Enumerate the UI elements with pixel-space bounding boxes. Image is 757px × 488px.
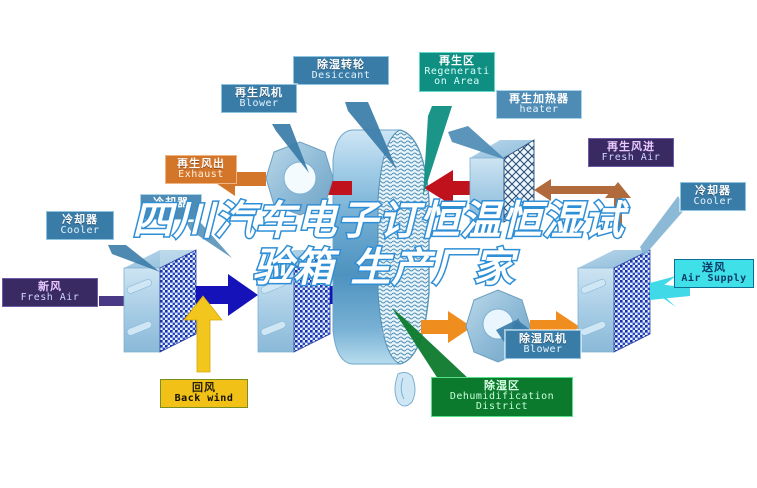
label-dehumidification-district: 除湿区 Dehumidification District [431, 377, 573, 417]
arrow-regen-fresh-air-orange [534, 179, 631, 238]
label-dehumid-blower-en: Blower [510, 345, 576, 356]
label-regen-heater: 再生加热器 heater [496, 90, 582, 119]
label-air-supply-cn: 送风 [679, 262, 749, 274]
label-desiccant-cn: 除湿转轮 [298, 59, 384, 71]
regen-heater-unit [470, 140, 534, 222]
label-cooler-right: 冷却器 Cooler [680, 182, 746, 211]
label-desiccant-wheel: 除湿转轮 Desiccant [293, 56, 389, 85]
label-regen-fresh-cn: 再生风进 [593, 141, 669, 153]
label-dehumid-cn: 除湿区 [436, 380, 568, 392]
label-regen-fresh-air-in: 再生风进 Fresh Air [588, 138, 674, 167]
label-cooler-left-cn: 冷却器 [51, 214, 109, 226]
label-regen-blower-cn: 再生风机 [226, 87, 292, 99]
rotor-faint-text: XT [378, 327, 395, 342]
label-cooler-back-cn: 冷却器 [145, 197, 197, 209]
label-back-wind: 回风 Back wind [160, 379, 248, 408]
label-cooler-right-en: Cooler [685, 197, 741, 208]
label-regen-blower: 再生风机 Blower [221, 84, 297, 113]
cooler-unit-2 [258, 250, 330, 352]
label-heater-en: heater [501, 105, 577, 116]
label-fresh-air-en: Fresh Air [7, 293, 93, 304]
dehumidifier-airflow-diagram: XT [0, 0, 757, 488]
arrow-dehumid-orange-1 [421, 311, 472, 343]
label-dehumid-blower-cn: 除湿风机 [510, 333, 576, 345]
label-cooler-right-cn: 冷却器 [685, 185, 741, 197]
label-cooler-left-back: 冷却器 [140, 194, 202, 220]
desiccant-rotor: XT [333, 130, 429, 406]
label-desiccant-en: Desiccant [298, 71, 384, 82]
label-regeneration-area: 再生区 Regenerati on Area [419, 52, 495, 92]
label-air-supply-en: Air Supply [679, 274, 749, 285]
label-fresh-air-cn: 新风 [7, 281, 93, 293]
cooler-unit-3 [578, 250, 650, 352]
label-fresh-air-in: 新风 Fresh Air [2, 278, 98, 307]
cooler-unit-1 [124, 250, 196, 352]
label-regen-area-cn: 再生区 [424, 55, 490, 67]
label-regen-exhaust: 再生风出 Exhaust [165, 155, 237, 184]
label-regen-fresh-en: Fresh Air [593, 153, 669, 164]
label-cooler-left-front: 冷却器 Cooler [46, 211, 114, 240]
label-air-supply: 送风 Air Supply [674, 259, 754, 288]
label-heater-cn: 再生加热器 [501, 93, 577, 105]
label-exhaust-en: Exhaust [170, 170, 232, 181]
label-regen-blower-en: Blower [226, 99, 292, 110]
label-cooler-left-en: Cooler [51, 226, 109, 237]
label-dehumid-en-2: District [436, 402, 568, 413]
label-exhaust-cn: 再生风出 [170, 158, 232, 170]
label-back-wind-cn: 回风 [165, 382, 243, 394]
label-regen-area-en-2: on Area [424, 77, 490, 88]
label-dehumid-blower: 除湿风机 Blower [505, 330, 581, 359]
label-back-wind-en: Back wind [165, 394, 243, 405]
